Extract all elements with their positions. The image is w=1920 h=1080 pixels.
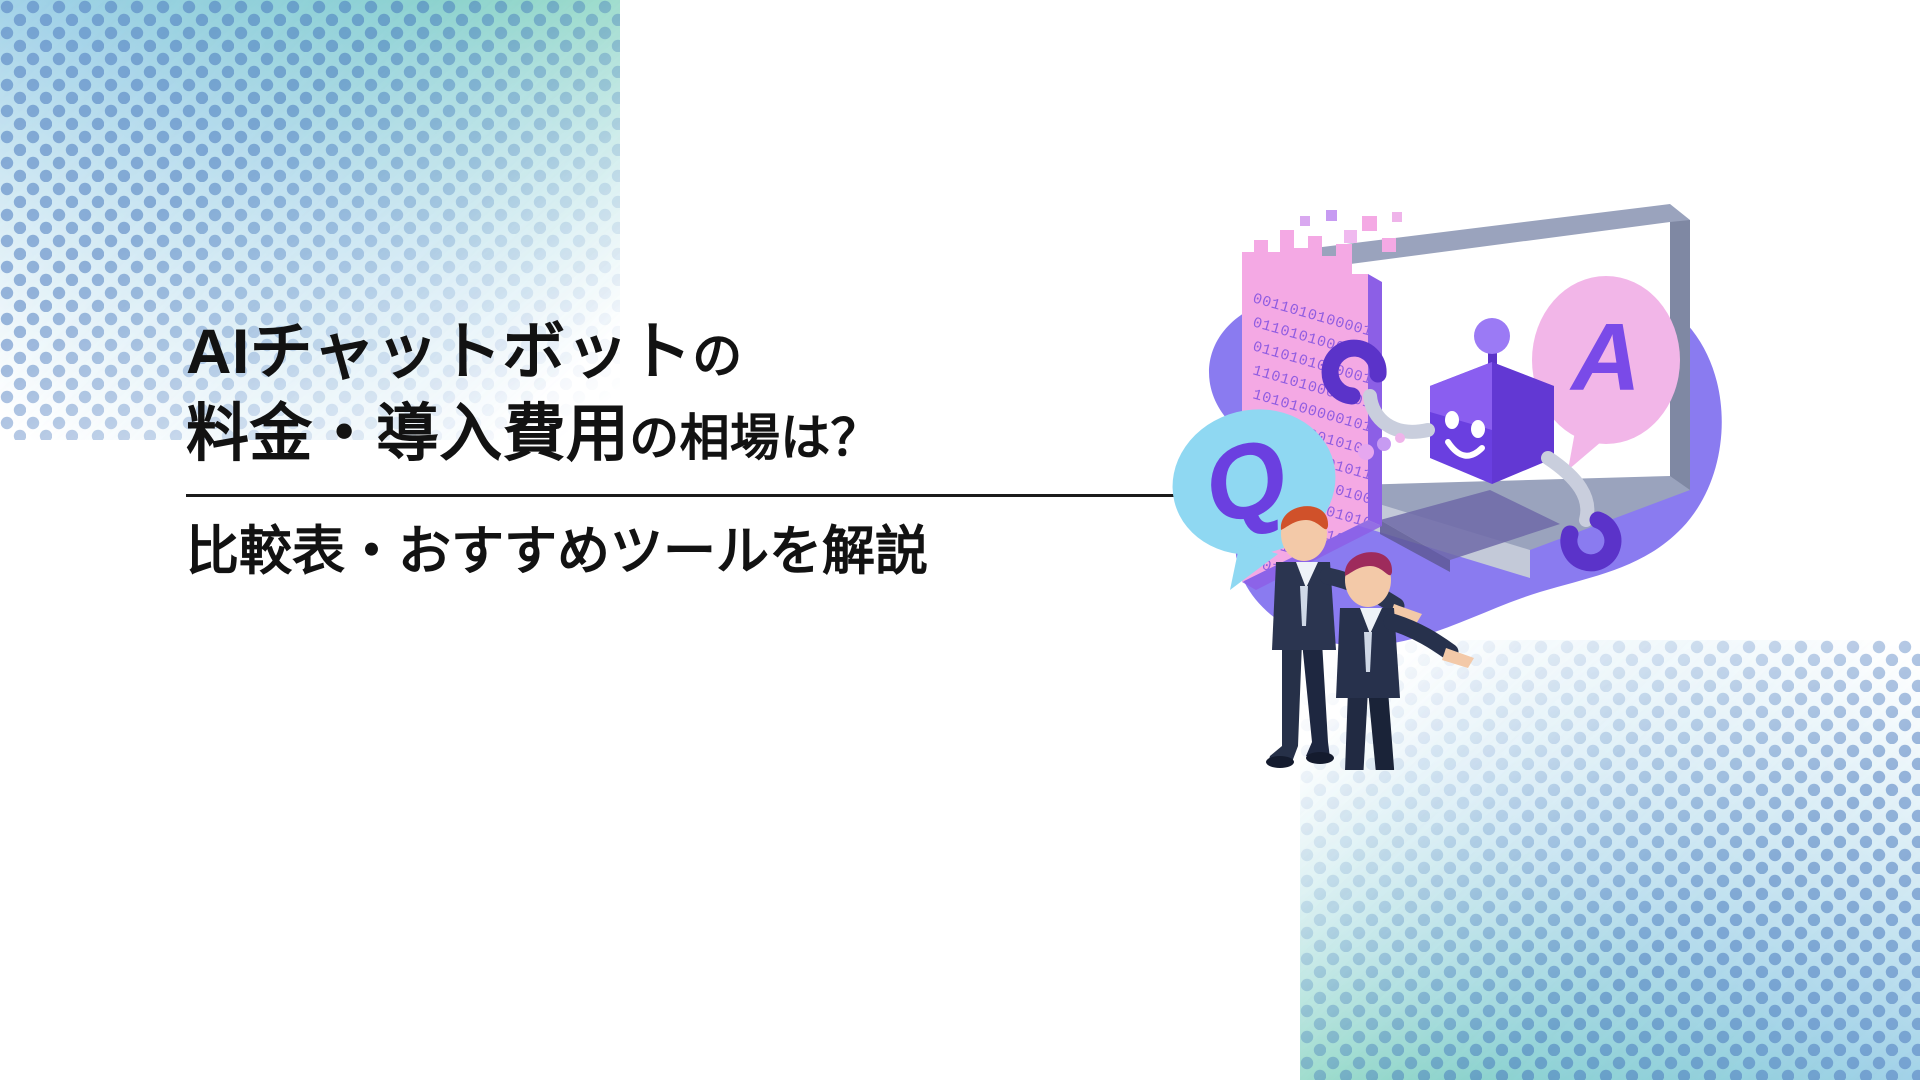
- headline-line-2: 料金・導入費用の相場は？: [186, 394, 1276, 476]
- poster-canvas: AIチャットボットの 料金・導入費用の相場は？ 比較表・おすすめツールを解説: [0, 0, 1920, 1080]
- headline-line-1-suffix: の: [692, 328, 742, 384]
- subheadline: 比較表・おすすめツールを解説: [186, 519, 1276, 585]
- headline-block: AIチャットボットの 料金・導入費用の相場は？ 比較表・おすすめツールを解説: [186, 312, 1276, 585]
- answer-bubble-letter: A: [1569, 304, 1640, 411]
- headline-line-2-main: 料金・導入費用: [186, 399, 629, 469]
- headline-line-1-main: AIチャットボット: [186, 317, 692, 387]
- headline-divider: [186, 494, 1254, 497]
- headline-line-2-suffix: の相場は？: [629, 410, 881, 466]
- ai-chatbot-qa-illustration: 0011010100001 0110101000011 011010100000…: [1130, 190, 1790, 770]
- headline-line-1: AIチャットボットの: [186, 312, 1276, 394]
